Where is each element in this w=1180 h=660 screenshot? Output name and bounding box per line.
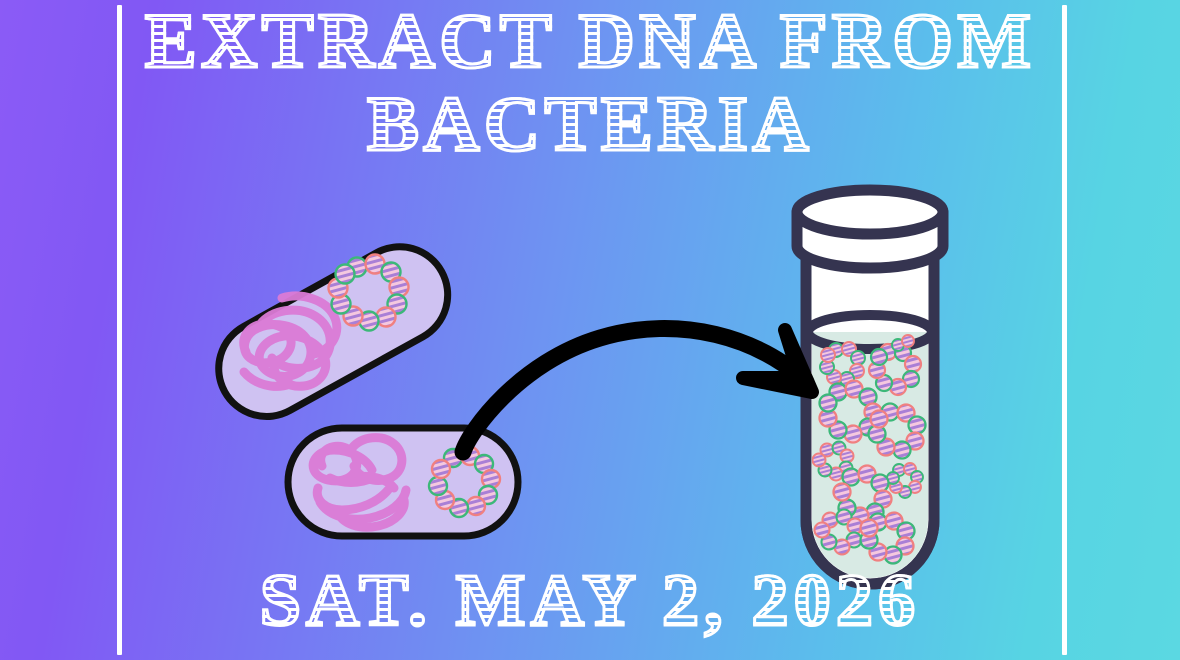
plasmid-bead (429, 477, 447, 495)
bacterium-horizontal (288, 428, 518, 536)
poster-canvas: Extract DNA From Bacteria Sat. May 2, 20… (0, 0, 1180, 660)
tube-mouth (797, 190, 943, 234)
arrow-shaft (463, 329, 806, 452)
bacterium-diagonal (201, 230, 464, 434)
plasmid-bead (467, 497, 485, 515)
test-tube (797, 190, 943, 588)
extraction-arrow (463, 329, 812, 452)
illustration (0, 0, 1180, 660)
plasmid-bead (336, 265, 355, 284)
plasmid-bead (432, 460, 450, 478)
